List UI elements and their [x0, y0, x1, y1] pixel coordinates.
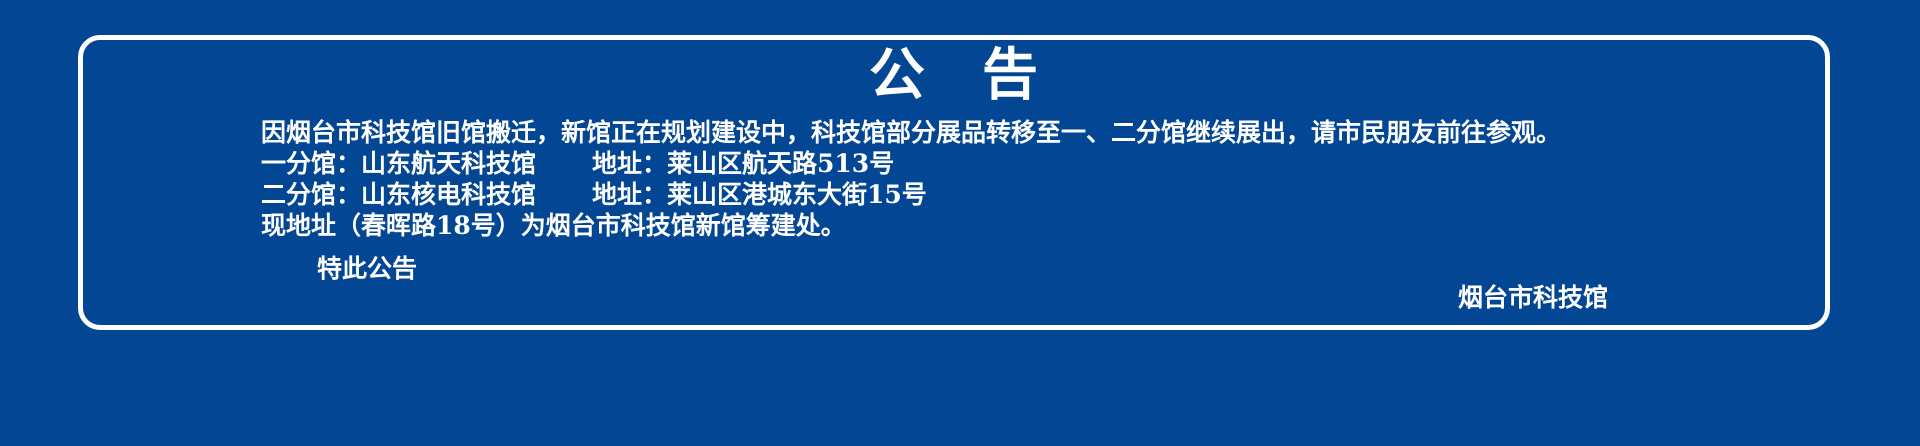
- current-address-line: 现地址（春晖路18号）为烟台市科技馆新馆筹建处。: [261, 210, 1781, 241]
- branch-line-2: 二分馆：山东核电科技馆地址：莱山区港城东大街15号: [261, 179, 1781, 210]
- branch-2-address: 地址：莱山区港城东大街15号: [592, 180, 927, 209]
- signature-issuer: 烟台市科技馆: [1458, 278, 1608, 314]
- branch-1-name: 一分馆：山东航天科技馆: [261, 149, 536, 178]
- notice-content: 公告 因烟台市科技馆旧馆搬迁，新馆正在规划建设中，科技馆部分展品转移至一、二分馆…: [78, 35, 1830, 330]
- notice-poster: 公告 因烟台市科技馆旧馆搬迁，新馆正在规划建设中，科技馆部分展品转移至一、二分馆…: [0, 0, 1920, 446]
- page-title-char-left: 公: [869, 42, 926, 108]
- notice-body: 因烟台市科技馆旧馆搬迁，新馆正在规划建设中，科技馆部分展品转移至一、二分馆继续展…: [261, 117, 1781, 284]
- branch-line-1: 一分馆：山东航天科技馆地址：莱山区航天路513号: [261, 148, 1781, 179]
- branch-2-name: 二分馆：山东核电科技馆: [261, 180, 536, 209]
- branch-1-address: 地址：莱山区航天路513号: [592, 149, 894, 178]
- page-title: 公告: [78, 43, 1830, 107]
- notice-paragraph-1: 因烟台市科技馆旧馆搬迁，新馆正在规划建设中，科技馆部分展品转移至一、二分馆继续展…: [261, 117, 1781, 148]
- page-title-char-right: 告: [982, 42, 1039, 108]
